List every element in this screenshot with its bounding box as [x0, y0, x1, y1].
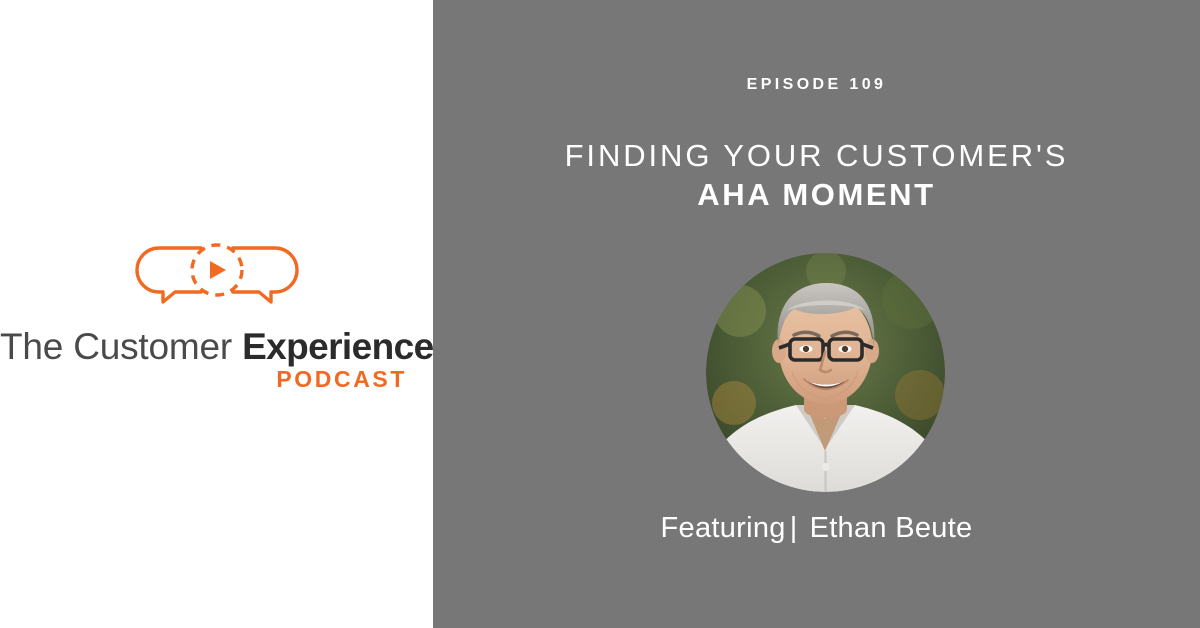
episode-title-line-1: FINDING YOUR CUSTOMER'S: [433, 136, 1200, 176]
left-panel: The Customer Experience PODCAST: [0, 0, 433, 628]
play-triangle-icon: [210, 261, 226, 279]
episode-title-line-2: AHA MOMENT: [433, 176, 1200, 214]
guest-headshot-image: [706, 253, 945, 492]
podcast-episode-cover: The Customer Experience PODCAST EPISODE …: [0, 0, 1200, 628]
speech-bubble-left: [137, 248, 201, 302]
episode-title: FINDING YOUR CUSTOMER'S AHA MOMENT: [433, 136, 1200, 213]
wordmark-light-text: The Customer: [0, 326, 242, 367]
brand-block: The Customer Experience PODCAST: [0, 236, 433, 391]
featuring-line: Featuring|Ethan Beute: [433, 512, 1200, 545]
guest-headshot-avatar: [706, 253, 945, 492]
podcast-speech-bubbles-play-icon: [127, 236, 307, 316]
guest-name: Ethan Beute: [800, 512, 973, 544]
wordmark-bold-text: Experience: [242, 326, 433, 367]
episode-number-label: EPISODE 109: [433, 76, 1200, 94]
featuring-label: Featuring: [661, 512, 786, 544]
wordmark: The Customer Experience PODCAST: [0, 328, 433, 391]
wordmark-primary: The Customer Experience: [0, 328, 433, 366]
wordmark-subtitle: PODCAST: [0, 368, 433, 391]
featuring-separator: |: [786, 512, 800, 545]
